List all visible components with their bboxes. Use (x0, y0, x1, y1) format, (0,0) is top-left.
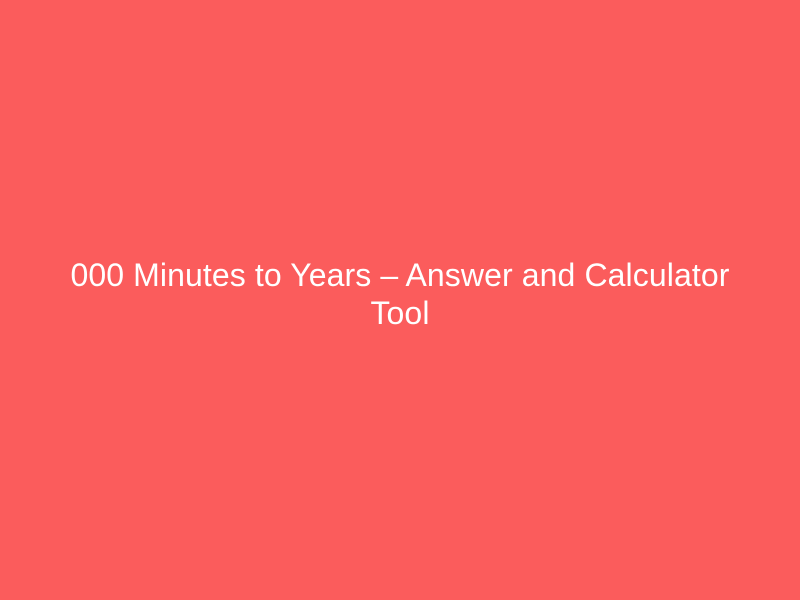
share-card: 000 Minutes to Years – Answer and Calcul… (0, 0, 800, 600)
title-container: 000 Minutes to Years – Answer and Calcul… (0, 256, 800, 332)
page-title: 000 Minutes to Years – Answer and Calcul… (50, 256, 750, 332)
